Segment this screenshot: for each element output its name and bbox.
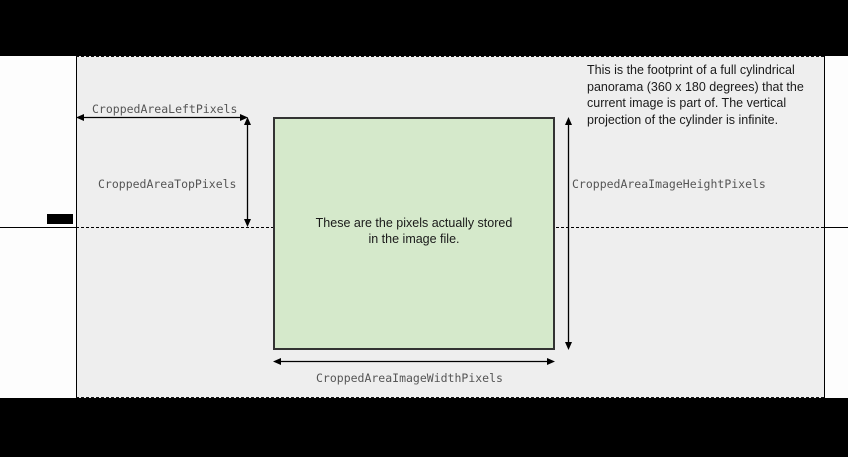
footprint-note: This is the footprint of a full cylindri… xyxy=(587,62,833,128)
horizon-line-right xyxy=(824,227,848,228)
diagram-canvas: These are the pixels actually stored in … xyxy=(0,0,848,457)
cropped-area-image-width-pixels-arrow xyxy=(273,357,555,366)
footprint-bottom-edge xyxy=(76,397,824,398)
cropped-area-image-height-pixels-label: CroppedAreaImageHeightPixels xyxy=(572,177,766,191)
cropped-area-left-pixels-label: CroppedAreaLeftPixels xyxy=(92,102,237,116)
footprint-note-line-1: This is the footprint of a full cylindri… xyxy=(587,63,795,77)
cropped-area-top-pixels-arrow xyxy=(243,117,252,227)
footprint-note-line-2: panorama (360 x 180 degrees) that the xyxy=(587,80,804,94)
footprint-note-line-3: current image is part of. The vertical xyxy=(587,96,786,110)
footprint-note-line-4: projection of the cylinder is infinite. xyxy=(587,113,778,127)
stored-pixels-caption-line-2: in the image file. xyxy=(275,231,553,247)
horizon-line-left xyxy=(0,227,76,228)
footprint-top-edge xyxy=(76,56,824,57)
cropped-area-image-width-pixels-label: CroppedAreaImageWidthPixels xyxy=(316,371,503,385)
stored-pixels-rectangle: These are the pixels actually stored in … xyxy=(273,117,555,350)
horizon-marker-block xyxy=(47,214,73,224)
stored-pixels-caption-line-1: These are the pixels actually stored xyxy=(316,216,513,230)
stored-pixels-caption: These are the pixels actually stored in … xyxy=(275,215,553,247)
cropped-area-image-height-pixels-arrow xyxy=(564,117,573,350)
cropped-area-top-pixels-label: CroppedAreaTopPixels xyxy=(98,177,236,191)
